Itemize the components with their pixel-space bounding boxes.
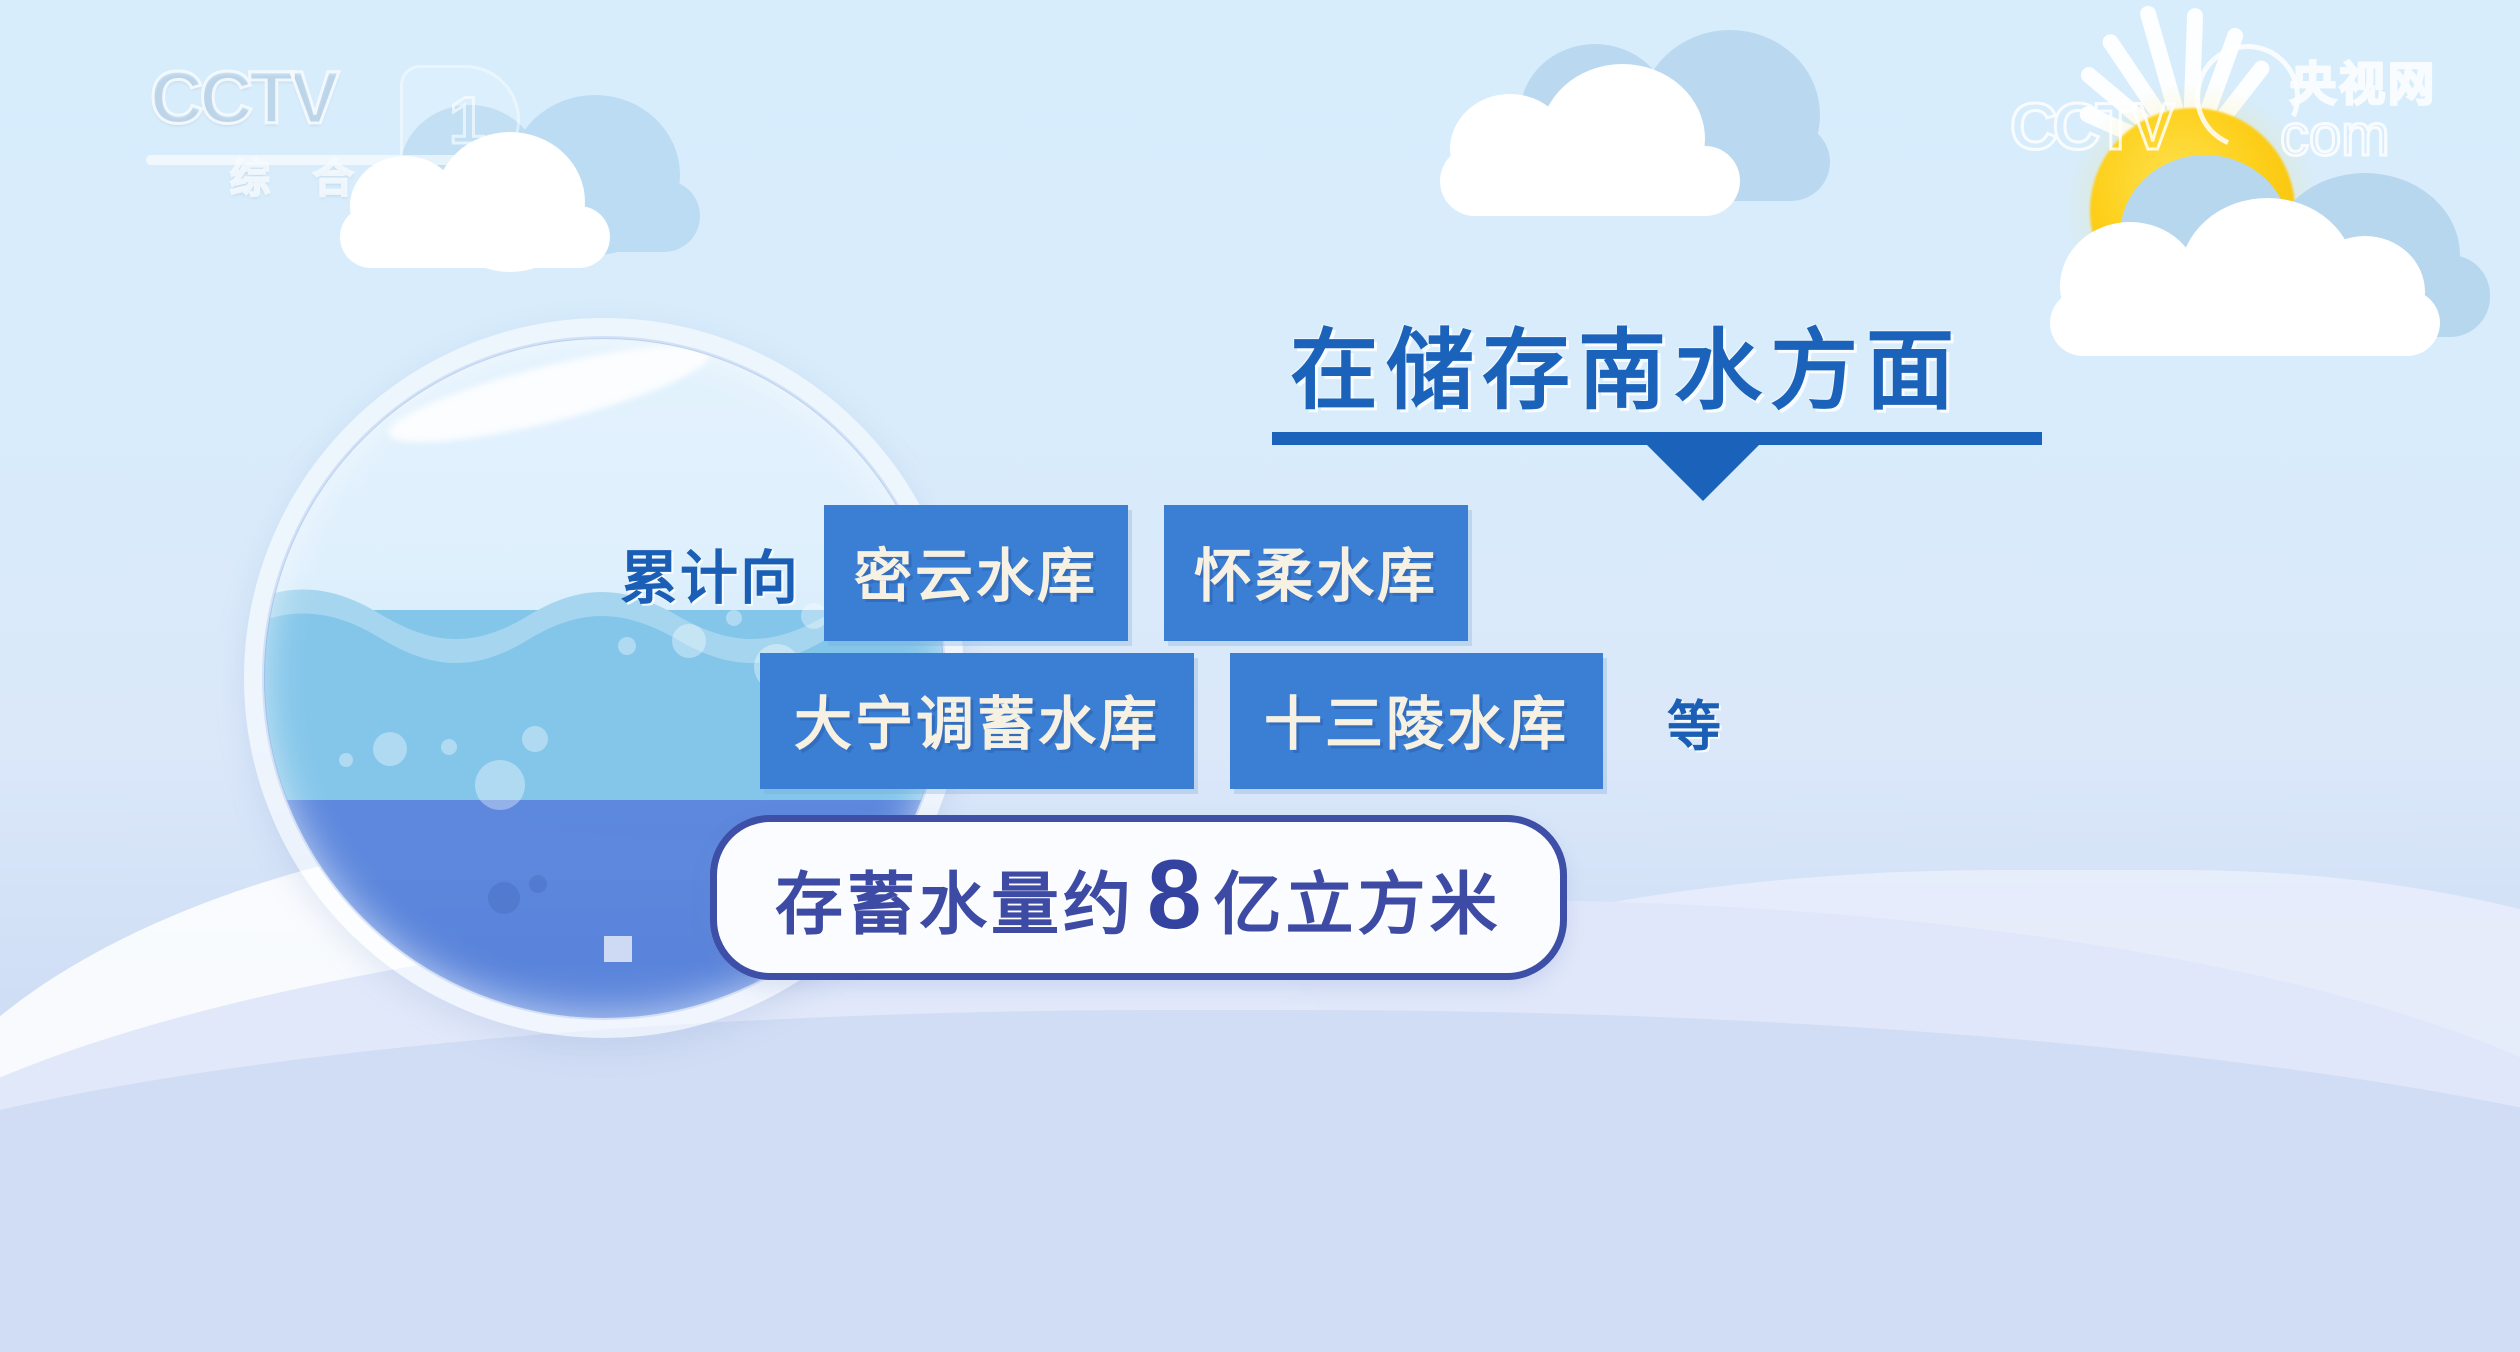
- reservoir-row-1: 累计向 密云水库 怀柔水库: [620, 505, 2470, 641]
- broadcast-graphic-frame: 1 CCTV 综 合 CCTV 央视网 com: [0, 0, 2520, 1352]
- reservoir-tag-shisanling[interactable]: 十三陵水库: [1230, 653, 1603, 789]
- reservoir-row-2: 大宁调蓄水库 十三陵水库 等: [760, 653, 2470, 789]
- headline-block: 在储存南水方面: [1290, 300, 2060, 427]
- logo-underbar: [146, 155, 476, 165]
- reservoir-tag-huairou[interactable]: 怀柔水库: [1164, 505, 1468, 641]
- headline-caret-icon: [1645, 443, 1761, 501]
- channel-number: 1: [449, 82, 486, 158]
- summary-text-after: 亿立方米: [1214, 849, 1502, 948]
- summary-pill: 存蓄水量约 8 亿立方米: [710, 815, 1567, 980]
- prefix-label: 累计向: [620, 531, 800, 615]
- summary-value: 8: [1147, 838, 1202, 951]
- summary-text-before: 存蓄水量约: [775, 849, 1135, 948]
- background-hill-foreground: [0, 1010, 2520, 1352]
- reservoir-tag-daning[interactable]: 大宁调蓄水库: [760, 653, 1194, 789]
- page-title: 在储存南水方面: [1290, 300, 2060, 427]
- suffix-label: 等: [1667, 682, 1723, 761]
- cctv-1-logo: 1 CCTV 综 合: [150, 55, 510, 205]
- infographic-content: 在储存南水方面 累计向 密云水库 怀柔水库 大宁调蓄水库 十三陵水库 等 存蓄水…: [1000, 300, 2470, 980]
- cloud-top: [1440, 60, 1800, 200]
- reservoir-tag-miyun[interactable]: 密云水库: [824, 505, 1128, 641]
